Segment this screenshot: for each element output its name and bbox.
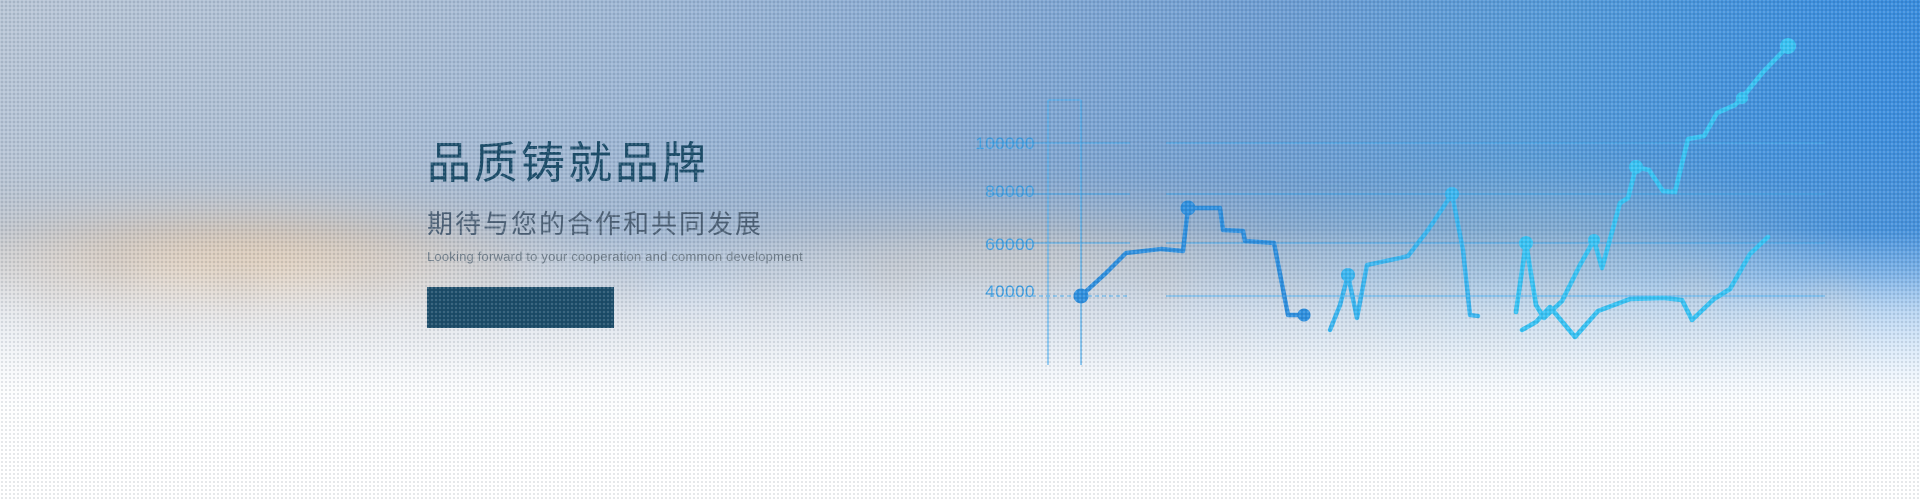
hero-banner: 100000 80000 60000 40000 (0, 0, 1920, 500)
halftone-dot-overlay-light (0, 0, 1920, 500)
